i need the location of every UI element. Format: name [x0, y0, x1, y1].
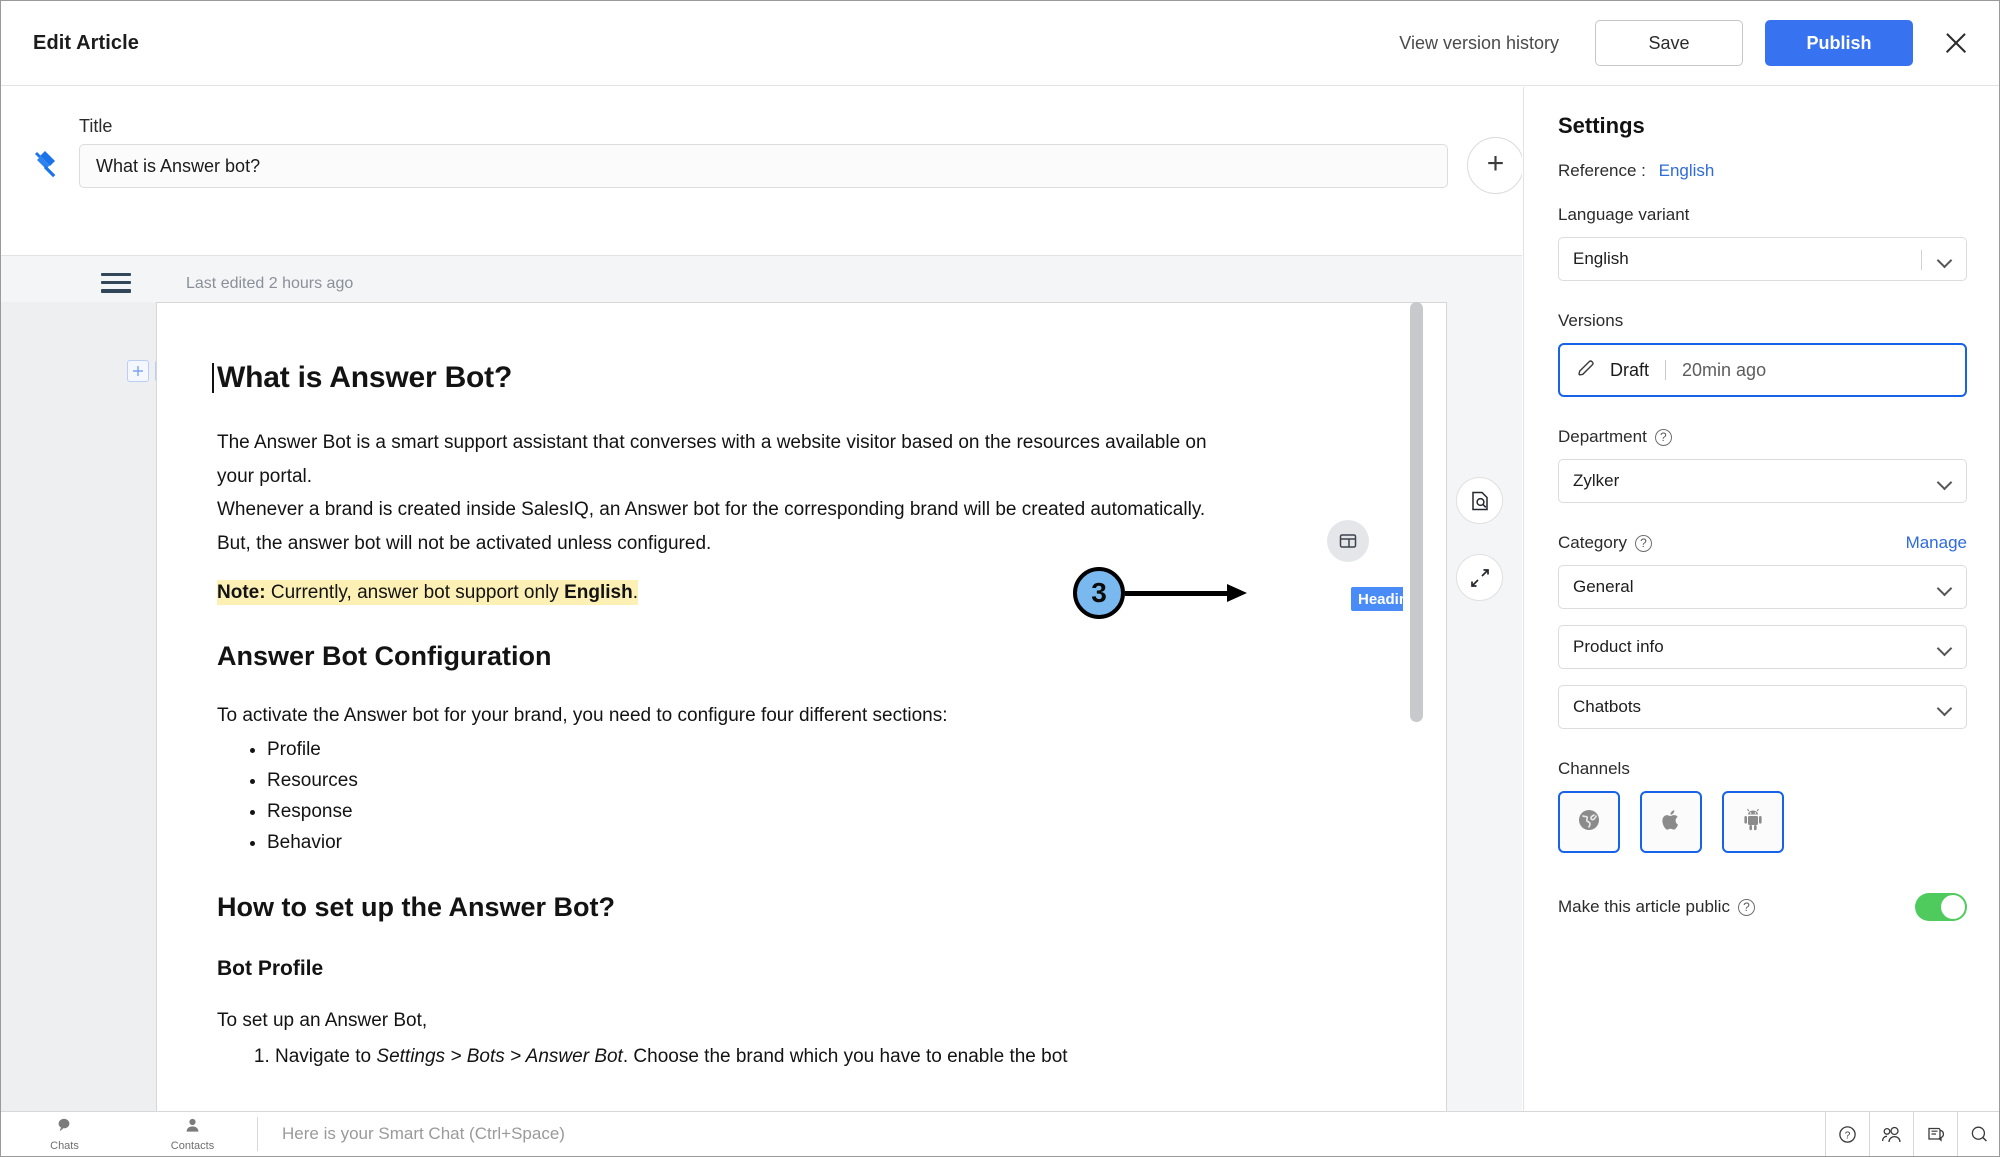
document-paper[interactable]: What is Answer Bot? The Answer Bot is a …	[156, 302, 1447, 1113]
category-value: General	[1573, 577, 1633, 597]
plus-icon: +	[1487, 149, 1505, 179]
list-item: Response	[267, 797, 1376, 828]
settings-panel: Settings Reference : English Language va…	[1523, 87, 2000, 1113]
text-caret	[212, 363, 214, 393]
language-variant-select[interactable]: English	[1558, 237, 1967, 281]
title-input[interactable]	[79, 144, 1448, 188]
note-highlight: Note: Currently, answer bot support only…	[217, 580, 638, 605]
chat-bubble-icon	[56, 1117, 73, 1139]
close-icon[interactable]	[1939, 26, 1973, 60]
category-label: Category ?	[1558, 533, 1652, 553]
title-section: Title +	[1, 87, 1522, 256]
list-item: Resources	[267, 766, 1376, 797]
chevron-down-icon	[1937, 641, 1953, 657]
annotation-step-3: 3	[1073, 567, 1247, 619]
settings-heading: Settings	[1558, 113, 1967, 139]
pencil-icon	[1576, 358, 1596, 383]
doc-heading-config: Answer Bot Configuration	[217, 641, 1376, 672]
doc-heading-setup: How to set up the Answer Bot?	[217, 892, 1376, 923]
ios-channel-tile[interactable]	[1640, 791, 1702, 853]
select-divider	[1921, 250, 1922, 270]
department-label: Department ?	[1558, 427, 1967, 447]
chevron-down-icon	[1937, 253, 1953, 269]
toggle-knob	[1941, 895, 1965, 919]
heading-tab-label[interactable]: Heading	[1351, 587, 1403, 611]
bottom-tab-chats-label: Chats	[50, 1140, 79, 1152]
editor-column: Title + Last edited	[1, 87, 1522, 1113]
chevron-down-icon	[1937, 475, 1953, 491]
doc-heading-1: What is Answer Bot?	[217, 361, 1376, 395]
save-button[interactable]: Save	[1595, 20, 1743, 66]
top-bar: Edit Article View version history Save P…	[1, 1, 2000, 86]
svg-text:?: ?	[1845, 1130, 1851, 1141]
list-item: Navigate to Settings > Bots > Answer Bot…	[275, 1043, 1376, 1072]
doc-paragraph-1b: your portal.	[217, 463, 1376, 491]
bottom-tab-contacts-label: Contacts	[171, 1140, 214, 1152]
android-channel-tile[interactable]	[1722, 791, 1784, 853]
page-title: Edit Article	[33, 32, 139, 55]
view-version-history-link[interactable]: View version history	[1399, 33, 1559, 54]
make-public-label: Make this article public ?	[1558, 897, 1755, 917]
help-icon[interactable]: ?	[1635, 535, 1652, 552]
channels-row	[1558, 791, 1967, 853]
note-language: English	[564, 582, 633, 603]
globe-icon	[1576, 807, 1602, 838]
bottom-tab-contacts[interactable]: Contacts	[129, 1112, 257, 1156]
add-language-button[interactable]: +	[1467, 137, 1522, 194]
list-item: Profile	[267, 735, 1376, 766]
reference-row: Reference : English	[1558, 161, 1967, 181]
title-label: Title	[79, 116, 112, 137]
chevron-down-icon	[1937, 581, 1953, 597]
expand-icon[interactable]	[1456, 554, 1503, 601]
help-icon[interactable]: ?	[1738, 899, 1755, 916]
category-select[interactable]: General	[1558, 565, 1967, 609]
manage-categories-link[interactable]: Manage	[1906, 533, 1967, 553]
apple-icon	[1658, 807, 1684, 838]
smart-chat-input[interactable]: Here is your Smart Chat (Ctrl+Space)	[258, 1112, 1825, 1156]
make-public-toggle[interactable]	[1915, 893, 1967, 921]
department-value: Zylker	[1573, 471, 1619, 491]
list-item: Behavior	[267, 828, 1376, 859]
editor-left-gutter	[1, 302, 156, 1113]
doc-paragraph-3: But, the answer bot will not be activate…	[217, 530, 1376, 558]
plus-icon[interactable]	[127, 360, 149, 382]
subcategory-select[interactable]: Product info	[1558, 625, 1967, 669]
bottom-bar-icons: ?	[1825, 1112, 2000, 1156]
step-path: Settings > Bots > Answer Bot	[376, 1046, 622, 1067]
search-icon[interactable]	[1957, 1112, 2000, 1156]
document-body[interactable]: What is Answer Bot? The Answer Bot is a …	[157, 303, 1446, 1071]
bottom-bar: Chats Contacts Here is your Smart Chat (…	[1, 1111, 2000, 1156]
make-public-row: Make this article public ?	[1558, 893, 1967, 921]
edit-article-window: Edit Article View version history Save P…	[0, 0, 2000, 1157]
doc-paragraph-5: To set up an Answer Bot,	[217, 1007, 1376, 1035]
topic-value: Chatbots	[1573, 697, 1641, 717]
doc-paragraph-1a: The Answer Bot is a smart support assist…	[217, 429, 1376, 457]
language-variant-label: Language variant	[1558, 205, 1967, 225]
pushpin-icon	[31, 147, 59, 181]
annotation-badge: 3	[1073, 567, 1125, 619]
versions-label: Versions	[1558, 311, 1967, 331]
reference-label: Reference :	[1558, 161, 1646, 180]
person-icon	[184, 1117, 201, 1139]
hamburger-icon[interactable]	[101, 273, 131, 293]
top-bar-actions: View version history Save Publish	[1399, 20, 1973, 66]
reference-language-link[interactable]: English	[1659, 161, 1715, 180]
editor-canvas: Last edited 2 hours ago What is Ans	[1, 256, 1522, 1113]
chevron-down-icon	[1937, 701, 1953, 717]
version-status: Draft	[1610, 360, 1649, 381]
help-icon[interactable]: ?	[1825, 1112, 1869, 1156]
android-icon	[1740, 807, 1766, 838]
document-search-icon[interactable]	[1456, 477, 1503, 524]
subcategory-value: Product info	[1573, 637, 1664, 657]
help-icon[interactable]: ?	[1655, 429, 1672, 446]
version-draft-item[interactable]: Draft 20min ago	[1558, 343, 1967, 397]
annotation-arrow-icon	[1125, 584, 1247, 602]
topic-select[interactable]: Chatbots	[1558, 685, 1967, 729]
note-label: Note:	[217, 582, 266, 603]
web-channel-tile[interactable]	[1558, 791, 1620, 853]
doc-paragraph-4: To activate the Answer bot for your bran…	[217, 702, 1376, 730]
bottom-tab-chats[interactable]: Chats	[1, 1112, 129, 1156]
department-select[interactable]: Zylker	[1558, 459, 1967, 503]
doc-numbered-list: Navigate to Settings > Bots > Answer Bot…	[217, 1043, 1376, 1072]
publish-button[interactable]: Publish	[1765, 20, 1913, 66]
editor-scrollbar[interactable]	[1410, 302, 1423, 722]
version-divider	[1665, 360, 1666, 380]
last-edited-label: Last edited 2 hours ago	[186, 275, 353, 293]
channels-label: Channels	[1558, 759, 1967, 779]
people-icon[interactable]	[1869, 1112, 1913, 1156]
editor-right-rail: Heading	[1447, 302, 1522, 1113]
layout-icon[interactable]	[1327, 520, 1369, 562]
chat-stack-icon[interactable]	[1913, 1112, 1957, 1156]
category-header: Category ? Manage	[1558, 533, 1967, 553]
doc-bullet-list: Profile Resources Response Behavior	[217, 735, 1376, 858]
language-variant-value: English	[1573, 249, 1629, 269]
doc-paragraph-2: Whenever a brand is created inside Sales…	[217, 496, 1376, 524]
doc-heading-bot-profile: Bot Profile	[217, 957, 1376, 981]
version-time: 20min ago	[1682, 360, 1766, 381]
